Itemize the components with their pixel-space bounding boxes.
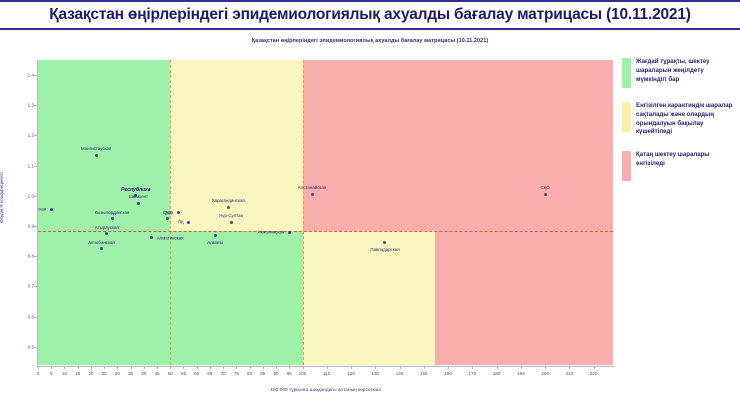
x-axis-tick-label: 15 (75, 371, 80, 376)
data-point-dot (230, 221, 233, 224)
x-axis-tick-label: 65 (207, 371, 212, 376)
reference-point-dot (134, 194, 137, 197)
x-axis-tick-label: 110 (323, 371, 330, 376)
reference-point-label: Республика (121, 187, 150, 193)
data-point-dot (150, 236, 153, 239)
x-axis-tick-label: 35 (128, 371, 133, 376)
data-point-label: Акмолинская (258, 230, 285, 235)
x-axis-tick-mark (197, 366, 198, 369)
x-axis-tick-mark (424, 366, 425, 369)
data-point-dot (177, 211, 180, 214)
chart-subtitle: Қазақстан өңірлеріндегі эпидемиологиялық… (0, 38, 740, 44)
x-axis-tick-mark (223, 366, 224, 369)
data-point-label: Мангистауская (81, 146, 111, 151)
data-point-dot (383, 241, 386, 244)
data-point-dot (50, 208, 53, 211)
legend-item-yellow: Енгізілген карантиндік шаралар сақталады… (622, 102, 736, 137)
x-axis-tick-label: 220 (590, 371, 598, 376)
data-point-label: Шымкент (129, 194, 148, 199)
y-axis-tick-mark (34, 226, 37, 227)
x-axis-tick-mark (236, 366, 237, 369)
zone-yellow-lower (303, 231, 435, 365)
x-axis-tick-label: 55 (181, 371, 186, 376)
x-axis-tick-label: 150 (420, 371, 428, 376)
x-axis-tick-label: 120 (347, 371, 355, 376)
data-point-dot (100, 247, 103, 250)
data-point-dot (214, 234, 217, 237)
y-axis-tick-mark (34, 105, 37, 106)
x-axis-tick-mark (497, 366, 498, 369)
y-axis-tick-mark (34, 317, 37, 318)
x-axis-tick-mark (144, 366, 145, 369)
y-axis-title: Өсудің R коэффициенті (0, 172, 4, 223)
data-point-label: СКО (163, 210, 172, 215)
x-axis-tick-mark (78, 366, 79, 369)
x-axis-tick-mark (183, 366, 184, 369)
legend-swatch-yellow (622, 102, 631, 132)
x-axis-tick-mark (104, 366, 105, 369)
x-axis-tick-mark (521, 366, 522, 369)
x-axis-tick-label: 90 (273, 371, 278, 376)
x-axis-tick-label: 45 (154, 371, 159, 376)
data-point-dot (105, 232, 108, 235)
data-point-dot (95, 154, 98, 157)
data-point-label: Атырауская (95, 225, 119, 230)
x-axis-tick-mark (594, 366, 595, 369)
data-point-dot (288, 231, 291, 234)
data-point-label: Алматы (207, 240, 223, 245)
y-axis-tick-mark (34, 166, 37, 167)
x-axis-tick-mark (157, 366, 158, 369)
y-axis-tick-mark (34, 286, 37, 287)
legend-item-green: Жағдай тұрақты, шектеу шараларын жеңілде… (622, 58, 736, 88)
data-point-label: Нур-Султан (219, 213, 243, 218)
data-point-label: Актюбинская (88, 240, 115, 245)
x-axis-tick-label: 0 (37, 371, 40, 376)
x-axis-line (37, 366, 614, 367)
page-title: Қазақстан өңірлеріндегі эпидемиологиялық… (49, 6, 690, 24)
x-axis-tick-mark (303, 366, 304, 369)
data-point-label: Туркестанская (38, 207, 46, 212)
x-axis-tick-mark (64, 366, 65, 369)
x-axis-tick-label: 80 (247, 371, 252, 376)
x-axis-tick-mark (170, 366, 171, 369)
x-axis-tick-label: 200 (541, 371, 549, 376)
x-axis-tick-mark (400, 366, 401, 369)
x-axis-tick-mark (250, 366, 251, 369)
data-point-label: ПҚ (178, 220, 184, 225)
plot-area: МангистаускаяТуркестанскаяШымкентКызылор… (38, 60, 613, 365)
y-axis-tick-mark (34, 135, 37, 136)
x-axis-tick-mark (117, 366, 118, 369)
data-point-dot (137, 202, 140, 205)
x-axis-title: 100 000 тұрғынға шаққандағы аптаның көрс… (38, 388, 613, 393)
x-axis-tick-label: 25 (102, 371, 107, 376)
y-axis-tick-mark (34, 256, 37, 257)
x-axis-tick-label: 50 (168, 371, 173, 376)
header-band: Қазақстан өңірлеріндегі эпидемиологиялық… (0, 0, 740, 30)
data-point-dot (166, 217, 169, 220)
data-point-dot (227, 206, 230, 209)
y-axis-line (37, 60, 38, 366)
x-axis-tick-mark (289, 366, 290, 369)
x-axis-tick-mark (263, 366, 264, 369)
threshold-line-x100 (303, 60, 304, 365)
x-axis-tick-label: 190 (517, 371, 525, 376)
x-axis-tick-mark (569, 366, 570, 369)
x-axis-tick-label: 60 (194, 371, 199, 376)
legend-label-red: Қатаң шектеу шаралары енгізіледі (636, 151, 736, 181)
x-axis-tick-mark (276, 366, 277, 369)
x-axis-tick-label: 30 (115, 371, 120, 376)
y-axis-tick-mark (34, 75, 37, 76)
x-axis-tick-label: 85 (260, 371, 265, 376)
data-point-dot (187, 221, 190, 224)
data-point-label: Кызылординская (95, 210, 130, 215)
y-axis-tick-mark (34, 196, 37, 197)
data-point-label: Костанайская (298, 185, 326, 190)
data-point-label: Алматинская (157, 235, 184, 240)
x-axis-tick-mark (327, 366, 328, 369)
x-axis-tick-mark (375, 366, 376, 369)
x-axis-tick-label: 210 (565, 371, 573, 376)
x-axis-tick-mark (51, 366, 52, 369)
data-point-dot (311, 193, 314, 196)
x-axis-tick-label: 170 (468, 371, 476, 376)
data-point-dot (544, 193, 547, 196)
legend: Жағдай тұрақты, шектеу шараларын жеңілде… (622, 58, 736, 195)
x-axis-tick-label: 5 (50, 371, 53, 376)
legend-swatch-green (622, 58, 631, 88)
x-axis-tick-label: 10 (62, 371, 67, 376)
x-axis-tick-label: 100 (299, 371, 307, 376)
x-axis-tick-mark (91, 366, 92, 369)
legend-swatch-red (622, 151, 631, 181)
data-point-label: СҚО (541, 185, 550, 190)
y-axis-tick-mark (34, 347, 37, 348)
threshold-line-r1 (38, 231, 613, 232)
x-axis-tick-label: 95 (287, 371, 292, 376)
x-axis-tick-label: 130 (371, 371, 379, 376)
x-axis-tick-label: 40 (141, 371, 146, 376)
x-axis-tick-label: 180 (493, 371, 501, 376)
zone-green-lower (38, 231, 170, 365)
x-axis-tick-mark (210, 366, 211, 369)
x-axis-tick-mark (472, 366, 473, 369)
x-axis-tick-label: 75 (234, 371, 239, 376)
data-point-dot (111, 217, 114, 220)
data-point-label: Карагандинская (212, 198, 245, 203)
x-axis-tick-label: 20 (88, 371, 93, 376)
x-axis-tick-label: 140 (396, 371, 404, 376)
legend-label-green: Жағдай тұрақты, шектеу шараларын жеңілде… (636, 58, 736, 88)
x-axis-tick-label: 160 (444, 371, 452, 376)
x-axis-tick-mark (131, 366, 132, 369)
x-axis-tick-mark (351, 366, 352, 369)
x-axis-tick-mark (545, 366, 546, 369)
legend-item-red: Қатаң шектеу шаралары енгізіледі (622, 151, 736, 181)
zone-green-lower-mid (170, 231, 302, 365)
data-point-label: Павлодарская (370, 247, 399, 252)
legend-label-yellow: Енгізілген карантиндік шаралар сақталады… (636, 102, 736, 137)
x-axis-tick-label: 70 (221, 371, 226, 376)
x-axis-tick-mark (448, 366, 449, 369)
x-axis-tick-mark (38, 366, 39, 369)
